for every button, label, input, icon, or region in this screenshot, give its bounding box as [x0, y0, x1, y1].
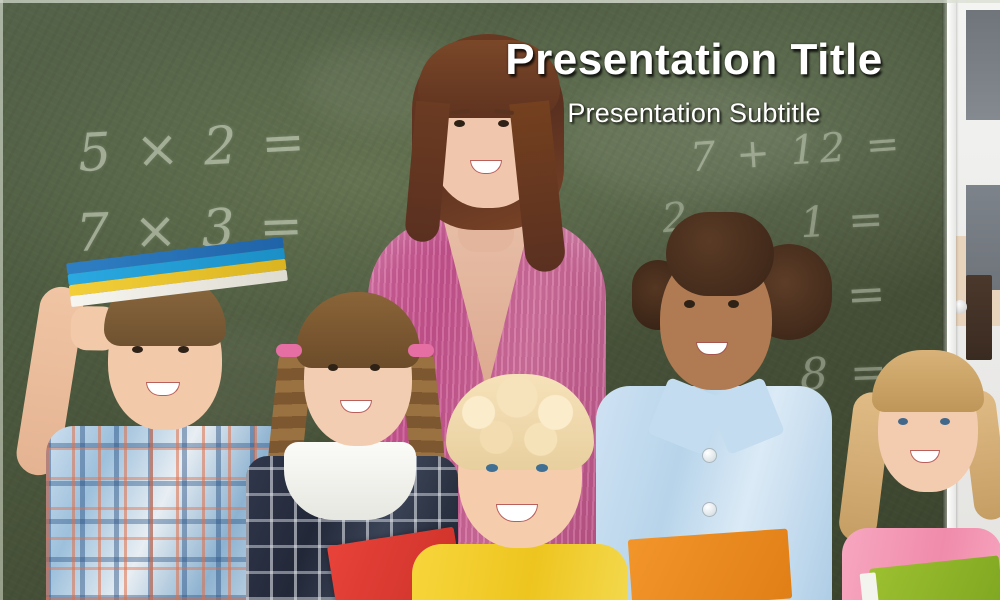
- presentation-slide: 5 × 2 = 7 × 3 = 7 + 12 = 2 1 = 3 = 8 =: [0, 0, 1000, 600]
- shirt-button: [702, 502, 717, 517]
- slide-top-border: [0, 0, 1000, 3]
- yellow-tshirt: [412, 544, 628, 600]
- girl-pink-eye-left: [898, 418, 908, 425]
- slide-left-border: [0, 0, 3, 600]
- boy-books-eye-right: [178, 346, 189, 353]
- girl-pink-hair: [872, 350, 984, 412]
- page-title[interactable]: Presentation Title: [424, 36, 964, 84]
- child-girl-in-blue: [596, 196, 832, 600]
- white-collar: [284, 442, 416, 520]
- hair-bow-right: [408, 344, 434, 357]
- orange-book: [628, 529, 792, 600]
- title-block: Presentation Title Presentation Subtitle: [424, 36, 964, 129]
- hair-puff-top: [666, 212, 774, 296]
- chalk-equation: 5 × 2 =: [77, 112, 311, 184]
- girl-blue-eye-left: [684, 300, 695, 308]
- boy-yellow-eye-left: [486, 464, 498, 472]
- girl-blue-eye-right: [728, 300, 739, 308]
- boy-books-eye-left: [132, 346, 143, 353]
- girl-braids-eye-right: [370, 364, 380, 371]
- boy-yellow-eye-right: [536, 464, 548, 472]
- page-subtitle[interactable]: Presentation Subtitle: [424, 98, 964, 129]
- wall-panel: [966, 10, 1000, 120]
- shirt-button: [702, 448, 717, 463]
- hair-bow-left: [276, 344, 302, 357]
- girl-braids-hair: [296, 292, 420, 368]
- child-girl-in-pink: [842, 340, 1000, 600]
- girl-pink-eye-right: [940, 418, 950, 425]
- book-pages: [860, 572, 882, 600]
- boy-yellow-curly-hair: [446, 374, 594, 470]
- girl-braids-eye-left: [328, 364, 338, 371]
- child-boy-in-yellow: [410, 368, 630, 600]
